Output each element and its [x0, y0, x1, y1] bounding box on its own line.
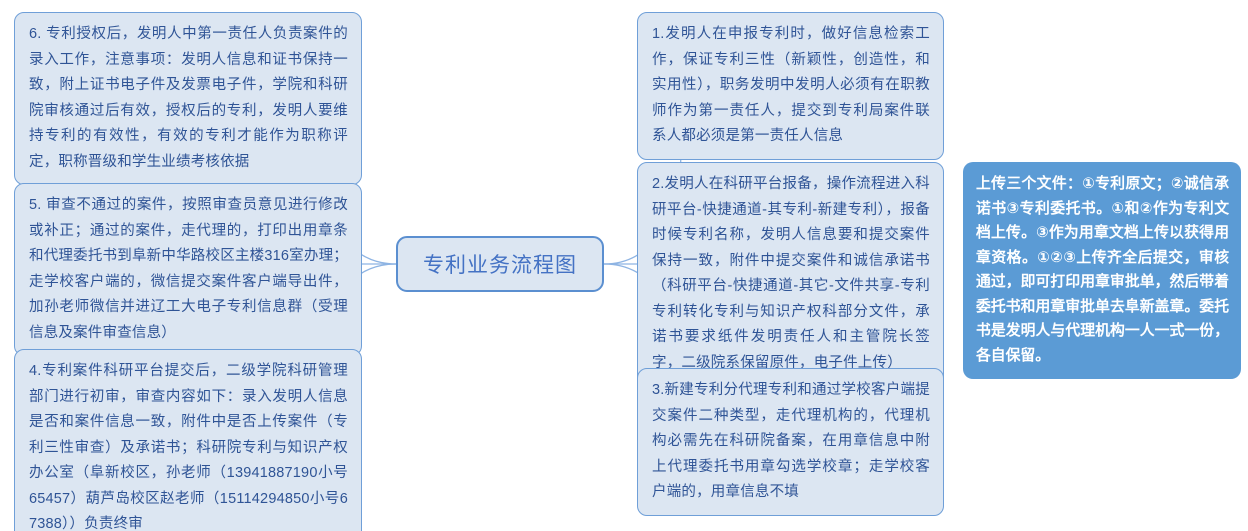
mindmap-node-step-2[interactable]: 2.发明人在科研平台报备，操作流程进入科研平台-快捷通道-其专利-新建专利），报… — [637, 162, 944, 386]
mindmap-node-step-4[interactable]: 4.专利案件科研平台提交后，二级学院科研管理部门进行初审，审查内容如下：录入发明… — [14, 349, 362, 531]
mindmap-node-step-6[interactable]: 6. 专利授权后，发明人中第一责任人负责案件的录入工作，注意事项：发明人信息和证… — [14, 12, 362, 185]
mindmap-node-step-1[interactable]: 1.发明人在申报专利时，做好信息检索工作，保证专利三性（新颖性，创造性，和实用性… — [637, 12, 944, 160]
node-5-text: 5. 审查不通过的案件，按照审查员意见进行修改或补正；通过的案件，走代理的，打印… — [29, 193, 348, 346]
mindmap-center-node[interactable]: 专利业务流程图 — [396, 236, 604, 292]
node-4-text: 4.专利案件科研平台提交后，二级学院科研管理部门进行初审，审查内容如下：录入发明… — [29, 359, 348, 531]
node-1-text: 1.发明人在申报专利时，做好信息检索工作，保证专利三性（新颖性，创造性，和实用性… — [652, 22, 930, 150]
node-3-text: 3.新建专利分代理专利和通过学校客户端提交案件二种类型，走代理机构的，代理机构必… — [652, 378, 930, 506]
center-node-label: 专利业务流程图 — [423, 249, 577, 279]
note-text: 上传三个文件：①专利原文；②诚信承诺书③专利委托书。①和②作为专利文档上传。③作… — [976, 172, 1229, 368]
node-2-text: 2.发明人在科研平台报备，操作流程进入科研平台-快捷通道-其专利-新建专利），报… — [652, 172, 930, 376]
mindmap-canvas: 6. 专利授权后，发明人中第一责任人负责案件的录入工作，注意事项：发明人信息和证… — [0, 0, 1248, 531]
node-6-text: 6. 专利授权后，发明人中第一责任人负责案件的录入工作，注意事项：发明人信息和证… — [29, 22, 348, 175]
mindmap-node-step-3[interactable]: 3.新建专利分代理专利和通过学校客户端提交案件二种类型，走代理机构的，代理机构必… — [637, 368, 944, 516]
mindmap-node-step-5[interactable]: 5. 审查不通过的案件，按照审查员意见进行修改或补正；通过的案件，走代理的，打印… — [14, 183, 362, 356]
mindmap-note-upload-files[interactable]: 上传三个文件：①专利原文；②诚信承诺书③专利委托书。①和②作为专利文档上传。③作… — [963, 162, 1241, 379]
